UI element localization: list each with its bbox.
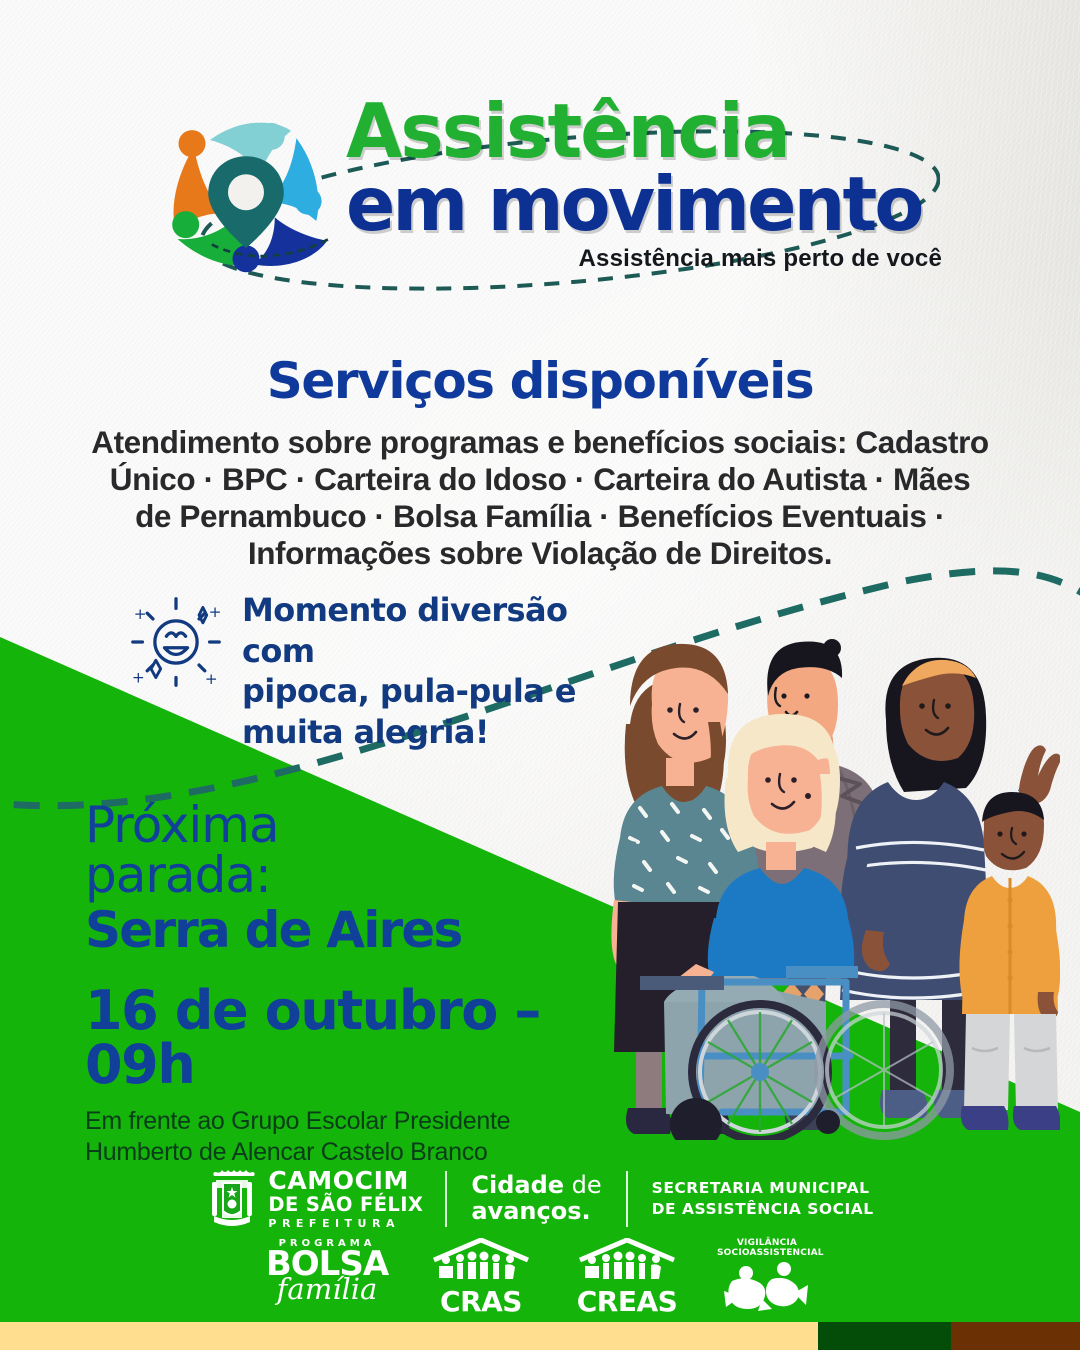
- svg-text:+: +: [209, 603, 222, 621]
- creas-logo: CREAS: [571, 1238, 683, 1318]
- creas-label: CREAS: [571, 1285, 683, 1318]
- vigilancia-line1: VIGILÂNCIA: [717, 1238, 817, 1248]
- fun-text-line3: muita alegria!: [242, 712, 648, 753]
- next-stop-block: Próxima parada: Serra de Aires 16 de out…: [85, 800, 625, 1167]
- cidade-de-avancos-brand: Cidade de avanços.: [447, 1173, 625, 1225]
- fun-text-line2: pipoca, pula-pula e: [242, 671, 648, 712]
- next-stop-label-line1: Próxima: [85, 800, 625, 850]
- svg-text:+: +: [205, 670, 218, 688]
- camocim-name: CAMOCIM: [268, 1168, 423, 1194]
- svg-text:+: +: [134, 605, 147, 623]
- poster-canvas: Assistência em movimento Assistência mai…: [0, 0, 1080, 1350]
- brand-logo: Assistência em movimento Assistência mai…: [150, 96, 940, 291]
- cras-label: CRAS: [425, 1285, 537, 1318]
- cras-house-people-icon: [426, 1238, 536, 1284]
- bottom-color-bar: [0, 1322, 1080, 1350]
- services-description: Atendimento sobre programas e benefícios…: [90, 424, 990, 571]
- fun-moment-block: + + + + Momento diversão com pipoca, pul…: [128, 590, 648, 753]
- next-stop-address-line1: Em frente ao Grupo Escolar Presidente: [85, 1106, 625, 1137]
- city-coat-of-arms-icon: [206, 1170, 258, 1228]
- family-group-wheelchair-illustration: [600, 600, 1060, 1140]
- camocim-subname: DE SÃO FÉLIX: [268, 1194, 423, 1215]
- next-stop-date-time: 16 de outubro – 09h: [85, 984, 625, 1092]
- bar-segment-dark-green: [818, 1322, 951, 1350]
- next-stop-address-line2: Humberto de Alencar Castelo Branco: [85, 1137, 625, 1168]
- camocim-prefeitura: PREFEITURA: [268, 1217, 423, 1230]
- bar-segment-brown: [951, 1322, 1080, 1350]
- bolsa-word: BOLSA: [263, 1249, 391, 1280]
- svg-text:+: +: [132, 668, 145, 686]
- secretaria-brand: SECRETARIA MUNICIPAL DE ASSISTÊNCIA SOCI…: [628, 1178, 874, 1220]
- vigilancia-logo: VIGILÂNCIA SOCIOASSISTENCIAL: [717, 1238, 817, 1316]
- bar-segment-cream: [0, 1322, 818, 1350]
- vigilancia-line2: SOCIOASSISTENCIAL: [717, 1248, 817, 1258]
- cidade-line2: avanços.: [471, 1199, 601, 1225]
- footer-brand-row: CAMOCIM DE SÃO FÉLIX PREFEITURA Cidade d…: [0, 1168, 1080, 1230]
- vigilancia-people-icon: [722, 1259, 812, 1311]
- logo-title-line1: Assistência: [346, 96, 928, 167]
- cidade-word2: de: [572, 1171, 602, 1199]
- fun-text-line1: Momento diversão com: [242, 590, 648, 671]
- secretaria-line2: DE ASSISTÊNCIA SOCIAL: [652, 1199, 874, 1220]
- secretaria-line1: SECRETARIA MUNICIPAL: [652, 1178, 874, 1199]
- logo-tagline: Assistência mais perto de você: [346, 245, 942, 273]
- bolsa-familia-logo: PROGRAMA BOLSA família: [263, 1238, 391, 1303]
- smiling-sun-sparkles-icon: + + + +: [128, 594, 224, 690]
- creas-house-people-icon: [572, 1238, 682, 1284]
- footer-programs-row: PROGRAMA BOLSA família CRAS: [0, 1238, 1080, 1318]
- people-circle-location-pin-logo-icon: [150, 104, 342, 284]
- cidade-word1: Cidade: [471, 1171, 564, 1199]
- services-heading: Serviços disponíveis: [0, 352, 1080, 410]
- logo-title-line2: em movimento: [346, 169, 928, 240]
- next-stop-city: Serra de Aires: [85, 902, 625, 958]
- next-stop-label-line2: parada:: [85, 850, 625, 900]
- camocim-brand: CAMOCIM DE SÃO FÉLIX PREFEITURA: [206, 1168, 445, 1230]
- cras-logo: CRAS: [425, 1238, 537, 1318]
